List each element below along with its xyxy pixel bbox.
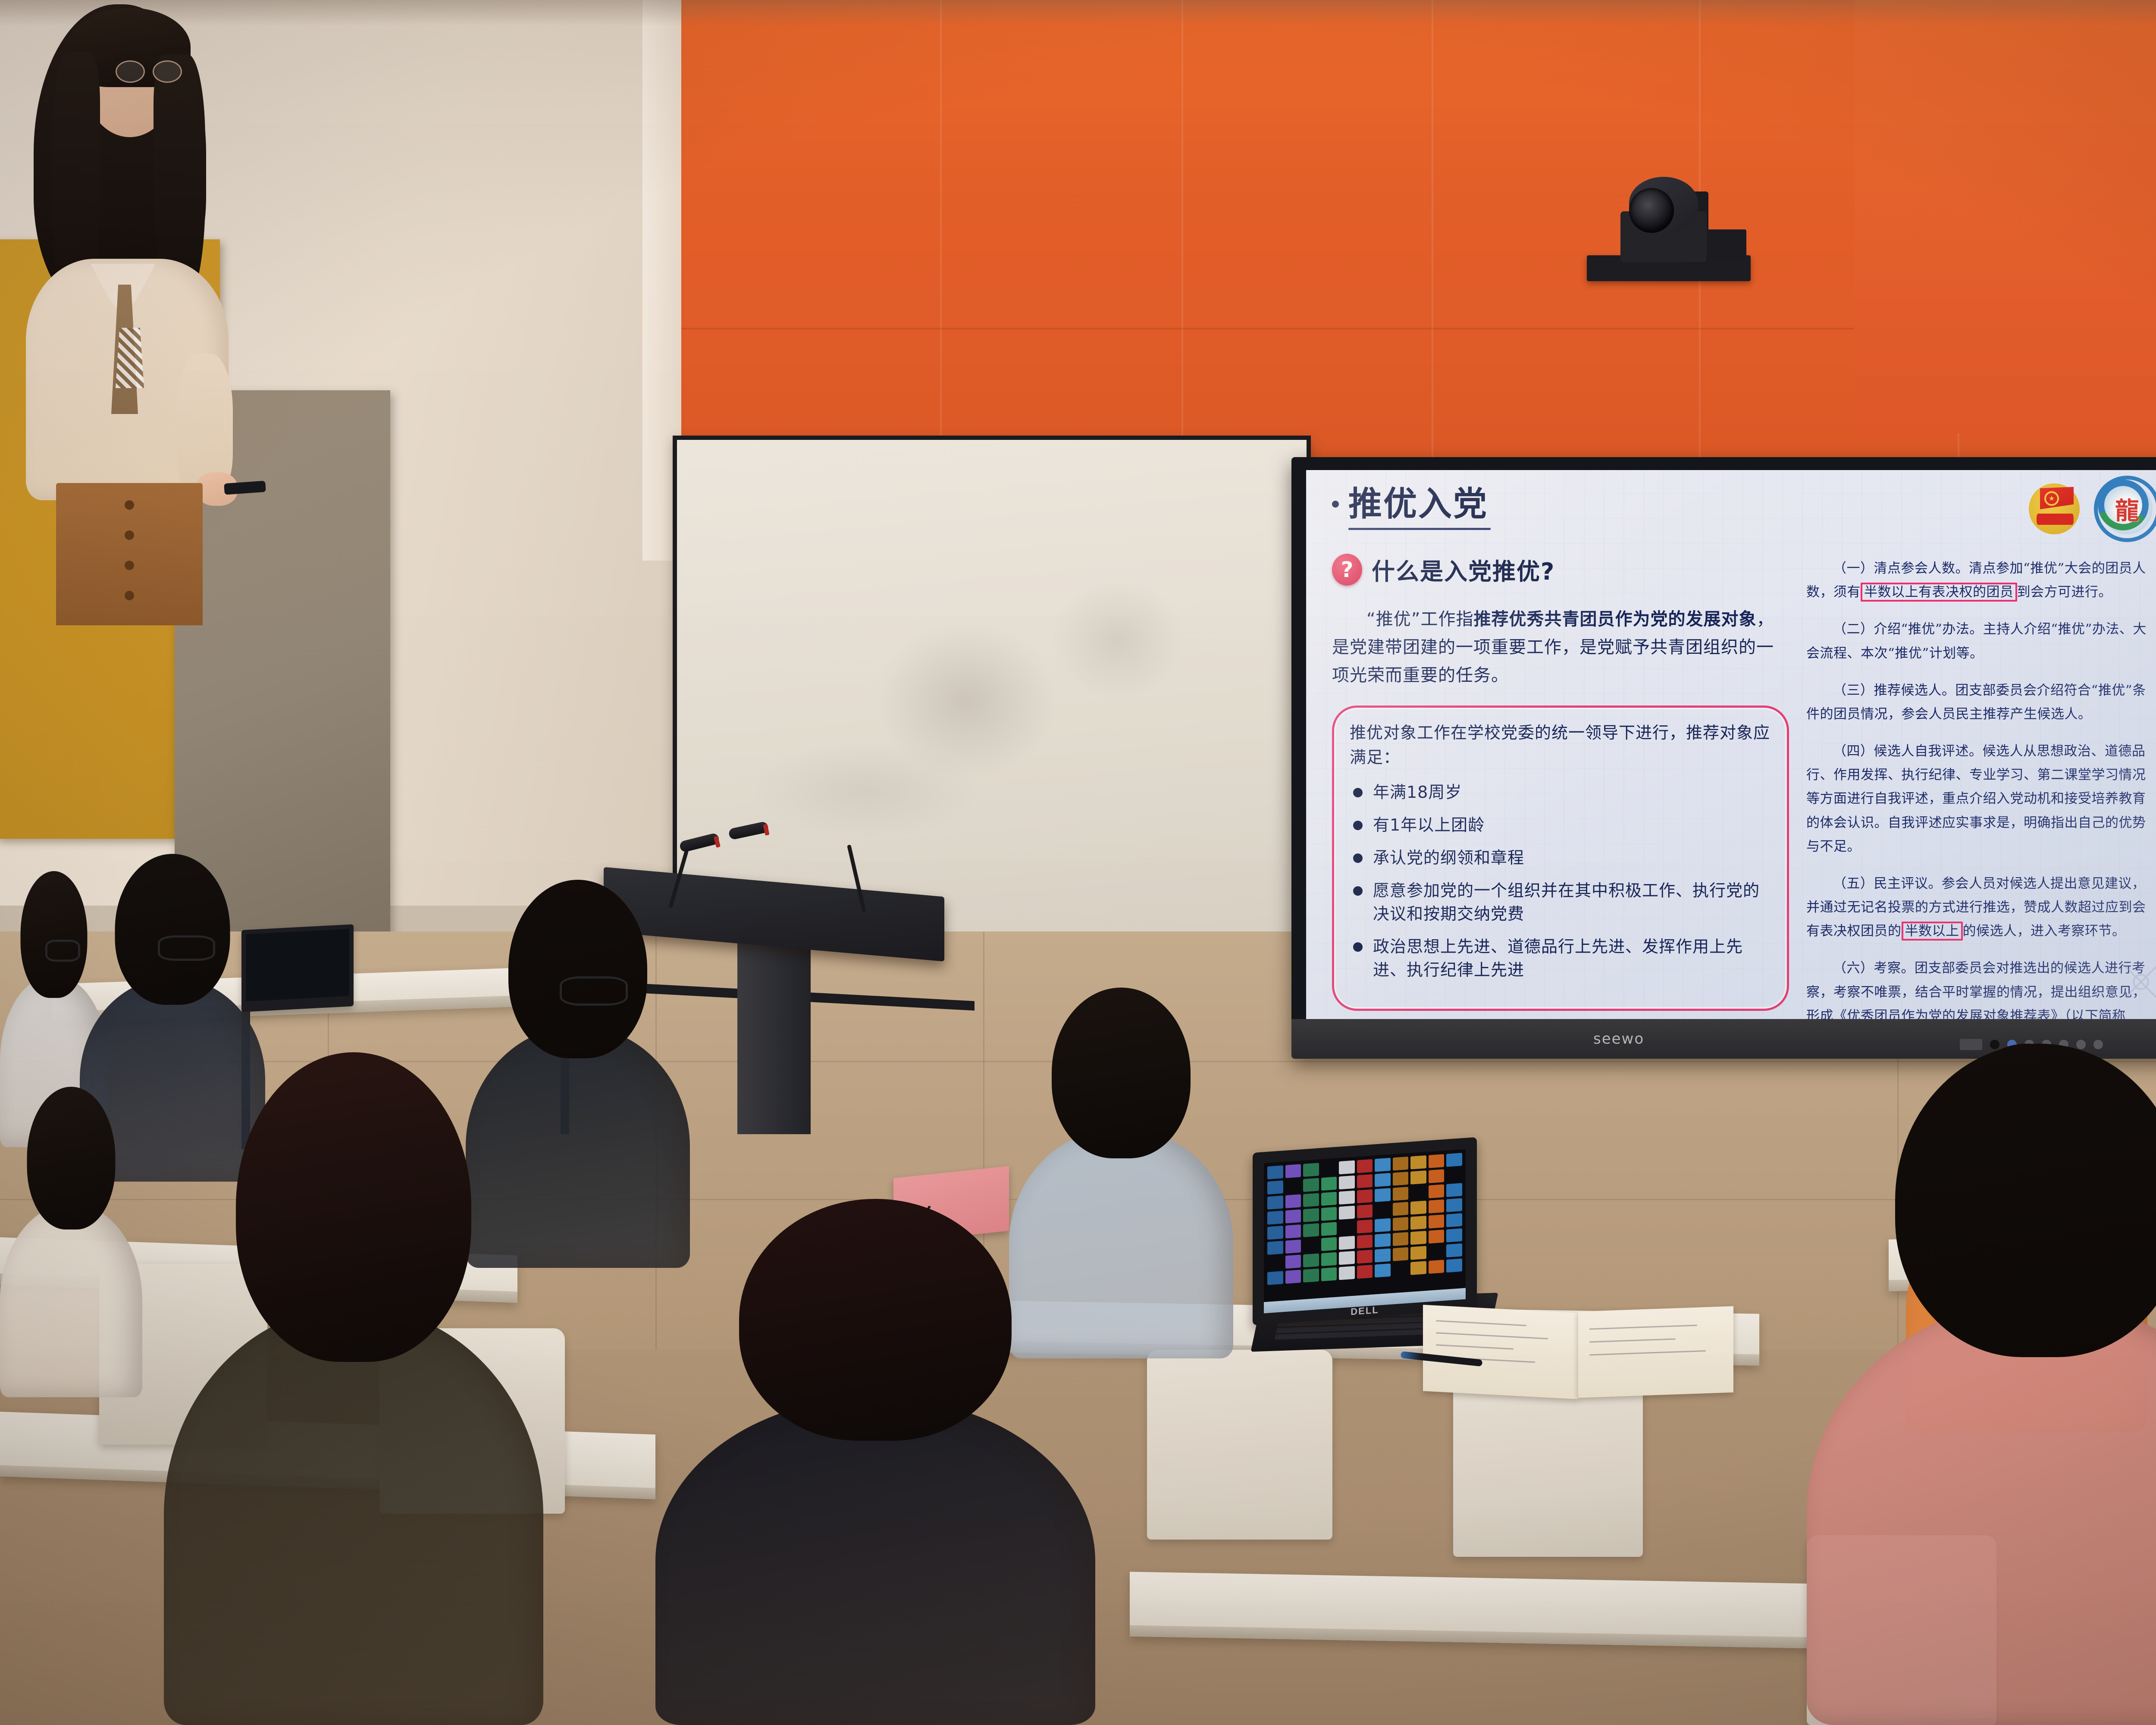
desktop-icon[interactable] [1446,1183,1462,1197]
glasses-icon [45,940,80,962]
ptz-camera [1591,169,1746,298]
desktop-icon[interactable] [1429,1184,1445,1198]
desktop-icon[interactable] [1375,1248,1391,1263]
desktop-icon[interactable] [1285,1270,1301,1284]
desktop-icon[interactable] [1446,1198,1462,1212]
desktop-icon[interactable] [1303,1163,1319,1177]
ceiling-shadow [0,0,2156,26]
desktop-icon[interactable] [1429,1260,1445,1274]
desktop-icon[interactable] [1339,1206,1355,1220]
paragraph-bold: 推荐优秀共青团员作为党的发展对象 [1473,609,1756,629]
desktop-icon[interactable] [1410,1201,1426,1215]
desktop-icon[interactable] [1267,1180,1283,1195]
open-notebook [1423,1309,1742,1412]
desktop-icon[interactable] [1321,1177,1337,1191]
desktop-icon[interactable] [1321,1252,1337,1267]
desktop-icon[interactable] [1357,1220,1373,1234]
desktop-icon-grid[interactable] [1267,1153,1462,1298]
audience-member [0,1087,142,1397]
desktop-icon[interactable] [1357,1235,1373,1249]
audience-torso [164,1306,543,1725]
slide-watermark-icon [2115,956,2156,1008]
desktop-icon[interactable] [1393,1202,1409,1216]
highlight-box: 半数以上有表决权的团员 [1861,583,2017,602]
desktop-icon[interactable] [1267,1241,1283,1255]
procedure-text: （四）候选人自我评述。候选人从思想政治、道德品行、作用发挥、执行纪律、专业学习、… [1806,743,2146,854]
audience-torso [0,1204,142,1397]
desktop-icon[interactable] [1375,1173,1391,1187]
laptop-screen[interactable] [1264,1149,1466,1302]
desktop-icon[interactable] [1357,1265,1373,1279]
desktop-icon[interactable] [1285,1224,1301,1239]
desktop-icon[interactable] [1339,1251,1355,1265]
star-icon: ★ [2044,491,2059,506]
desktop-icon[interactable] [1285,1239,1301,1254]
desktop-icon[interactable] [1410,1170,1426,1185]
requirements-list: 年满18周岁 有1年以上团龄 承认党的纲领和章程 愿意参加党的一个组织并在其中积… [1350,781,1771,982]
procedure-text: 的候选人，进入考察环节。 [1963,923,2126,939]
presenter-skirt [56,483,203,625]
desktop-icon[interactable] [1410,1261,1426,1275]
desktop-icon[interactable] [1321,1222,1337,1236]
desktop-icon[interactable] [1357,1204,1373,1219]
microphone-capsule [679,832,720,853]
desk-row-front [1130,1572,1889,1650]
desktop-icon[interactable] [1339,1191,1355,1205]
procedure-text: （六）考察。团支部委员会对推选出的候选人进行考察，考察不唯票，结合平时掌握的情况… [1806,960,2146,1019]
display-screen[interactable]: ★ 龍 推优入党 ? [1306,470,2156,1019]
desktop-icon[interactable] [1321,1207,1337,1221]
procedure-item: （一）清点参会人数。清点参加“推优”大会的团员人数，须有半数以上有表决权的团员到… [1806,557,2151,604]
desktop-icon[interactable] [1303,1253,1319,1267]
desktop-icon[interactable] [1393,1172,1409,1186]
audience-member [1807,1044,2156,1725]
desktop-icon[interactable] [1321,1267,1337,1282]
slide-question: 什么是入党推优? [1372,552,1555,586]
procedure-item: （五）民主评议。参会人员对候选人提出意见建议，并通过无记名投票的方式进行推选，赞… [1806,872,2151,944]
procedure-item: （三）推荐候选人。团支部委员会介绍符合“推优”条件的团员情况，参会人员民主推荐产… [1806,679,2151,726]
desktop-icon[interactable] [1285,1209,1301,1223]
desktop-icon[interactable] [1303,1268,1319,1283]
slide-title: 推优入党 [1348,487,1488,521]
procedure-text: 到会方可进行。 [2017,584,2112,600]
desktop-icon[interactable] [1446,1243,1462,1258]
desktop-icon[interactable] [1375,1188,1391,1202]
lectern-column [737,931,811,1134]
desktop-icon[interactable] [1267,1211,1283,1225]
desktop-icon[interactable] [1357,1250,1373,1264]
desktop-icon[interactable] [1393,1157,1409,1171]
slide-right-column: （一）清点参会人数。清点参加“推优”大会的团员人数，须有半数以上有表决权的团员到… [1806,543,2151,1019]
desktop-icon[interactable] [1410,1216,1426,1230]
audience-head [27,1087,116,1229]
desktop-icon[interactable] [1267,1226,1283,1240]
audience-torso [655,1397,1095,1725]
requirements-box: 推优对象工作在学校党委的统一领导下进行，推荐对象应满足： 年满18周岁 有1年以… [1332,706,1789,1011]
desktop-icon[interactable] [1267,1165,1283,1179]
title-underline [1348,528,1491,530]
slide-left-column: 推优入党 ? 什么是入党推优? “推优”工作指推荐优秀共青团员作为党的发展对象，… [1332,487,1789,1011]
desktop-icon[interactable] [1303,1178,1319,1192]
paragraph-prefix: “推优”工作指 [1366,609,1473,629]
desktop-icon[interactable] [1267,1271,1283,1285]
desktop-icon[interactable] [1285,1194,1301,1208]
desktop-icon[interactable] [1321,1192,1337,1206]
desktop-icon[interactable] [1393,1217,1409,1231]
interactive-display[interactable]: ★ 龍 推优入党 ? [1291,457,2156,1059]
desktop-icon[interactable] [1339,1176,1355,1190]
camera-mount-plate [1704,229,1746,260]
slide-paragraph: “推优”工作指推荐优秀共青团员作为党的发展对象，是党建带团建的一项重要工作，是党… [1332,605,1789,689]
glasses-icon [158,935,215,961]
desktop-icon[interactable] [1429,1199,1445,1214]
laptop-lid: DELL [1253,1137,1477,1325]
laptop-brand: DELL [1351,1305,1379,1318]
procedure-item: （二）介绍“推优”办法。主持人介绍“推优”办法、大会流程、本次“推优”计划等。 [1806,618,2151,665]
audience-head [1895,1044,2156,1357]
desktop-icon[interactable] [1375,1233,1391,1248]
microphone-capsule [728,821,769,841]
audience-head [1052,988,1191,1158]
desktop-icon[interactable] [1339,1160,1355,1175]
notebook-page-right [1578,1306,1733,1398]
desktop-icon[interactable] [1429,1154,1445,1168]
desktop-icon[interactable] [1267,1195,1283,1210]
desktop-icon[interactable] [1303,1223,1319,1237]
microphone-ring [763,824,769,836]
procedure-text: （二）介绍“推优”办法。主持人介绍“推优”办法、大会流程、本次“推优”计划等。 [1806,621,2147,661]
desktop-icon[interactable] [1393,1247,1409,1261]
list-item: 愿意参加党的一个组织并在其中积极工作、执行党的决议和按期交纳党费 [1350,879,1771,926]
orange-panel-right [1854,0,2156,433]
desktop-icon[interactable] [1285,1255,1301,1269]
desktop-icon[interactable] [1357,1159,1373,1173]
question-mark-icon: ? [1332,554,1362,586]
notebook-page-left [1423,1305,1578,1399]
desktop-icon[interactable] [1357,1189,1373,1204]
list-item: 有1年以上团龄 [1350,814,1771,837]
desktop-icon[interactable] [1446,1153,1462,1167]
desktop-icon[interactable] [1429,1214,1445,1229]
desktop-icon[interactable] [1393,1232,1409,1246]
list-item: 年满18周岁 [1350,781,1771,804]
audience-head [21,871,88,998]
desktop-icon[interactable] [1446,1213,1462,1227]
desktop-icon[interactable] [1446,1258,1462,1273]
slide-title-row: 推优入党 [1332,487,1789,521]
procedure-text: （三）推荐候选人。团支部委员会介绍符合“推优”条件的团员情况，参会人员民主推荐产… [1806,683,2146,722]
bullet-dot-icon [1332,501,1339,508]
camera-lens-icon [1629,188,1674,233]
audience-head [739,1199,1012,1441]
desktop-icon[interactable] [1393,1187,1409,1201]
audience-head [115,854,230,1005]
procedure-item: （四）候选人自我评述。候选人从思想政治、道德品行、作用发挥、执行纪律、专业学习、… [1806,740,2151,859]
desktop-icon[interactable] [1303,1208,1319,1222]
classroom-photo: ★ 龍 推优入党 ? [0,0,2156,1725]
highlight-box: 半数以上 [1902,922,1963,941]
desktop-icon[interactable] [1410,1231,1426,1245]
desktop-icon[interactable] [1429,1229,1445,1244]
slide-question-row: ? 什么是入党推优? [1332,552,1789,586]
requirements-lead: 推优对象工作在学校党委的统一领导下进行，推荐对象应满足： [1350,721,1771,770]
audience-member [164,1052,543,1725]
school-emblem-glyph: 龍 [2102,483,2153,534]
desktop-icon[interactable] [1410,1155,1426,1170]
chair[interactable] [1147,1350,1332,1540]
desktop-icon[interactable] [1375,1158,1391,1172]
list-item: 承认党的纲领和章程 [1350,847,1771,870]
desktop-icon[interactable] [1285,1164,1301,1178]
desktop-icon[interactable] [1339,1266,1355,1280]
desktop-icon[interactable] [1429,1169,1445,1183]
audience-head [236,1052,471,1362]
school-circular-emblem-icon: 龍 [2098,480,2156,538]
desktop-icon[interactable] [1446,1228,1462,1242]
desktop-icon[interactable] [1339,1236,1355,1250]
desktop-icon[interactable] [1375,1218,1391,1233]
audience-torso [1807,1301,2156,1725]
slide-logos: ★ 龍 [2029,480,2156,538]
desktop-icon[interactable] [1357,1174,1373,1189]
microphone-ring [714,836,721,848]
desktop-icon[interactable] [1410,1246,1426,1260]
desktop-icon[interactable] [1303,1193,1319,1207]
list-item: 政治思想上先进、道德品行上先进、发挥作用上先进、执行纪律上先进 [1350,935,1771,982]
presenter-tie-pattern [116,328,144,388]
desktop-icon[interactable] [1375,1264,1391,1278]
procedure-item: （六）考察。团支部委员会对推选出的候选人进行考察，考察不唯票，结合平时掌握的情况… [1806,957,2151,1019]
glasses-icon [116,60,181,80]
audience-head [508,880,647,1058]
presentation-slide: ★ 龍 推优入党 ? [1306,470,2156,1019]
audience-member [655,1199,1095,1725]
desktop-icon[interactable] [1321,1237,1337,1251]
display-brand: seewo [1593,1030,1644,1048]
glasses-icon [560,976,628,1006]
communist-youth-league-emblem-icon: ★ [2029,483,2080,534]
